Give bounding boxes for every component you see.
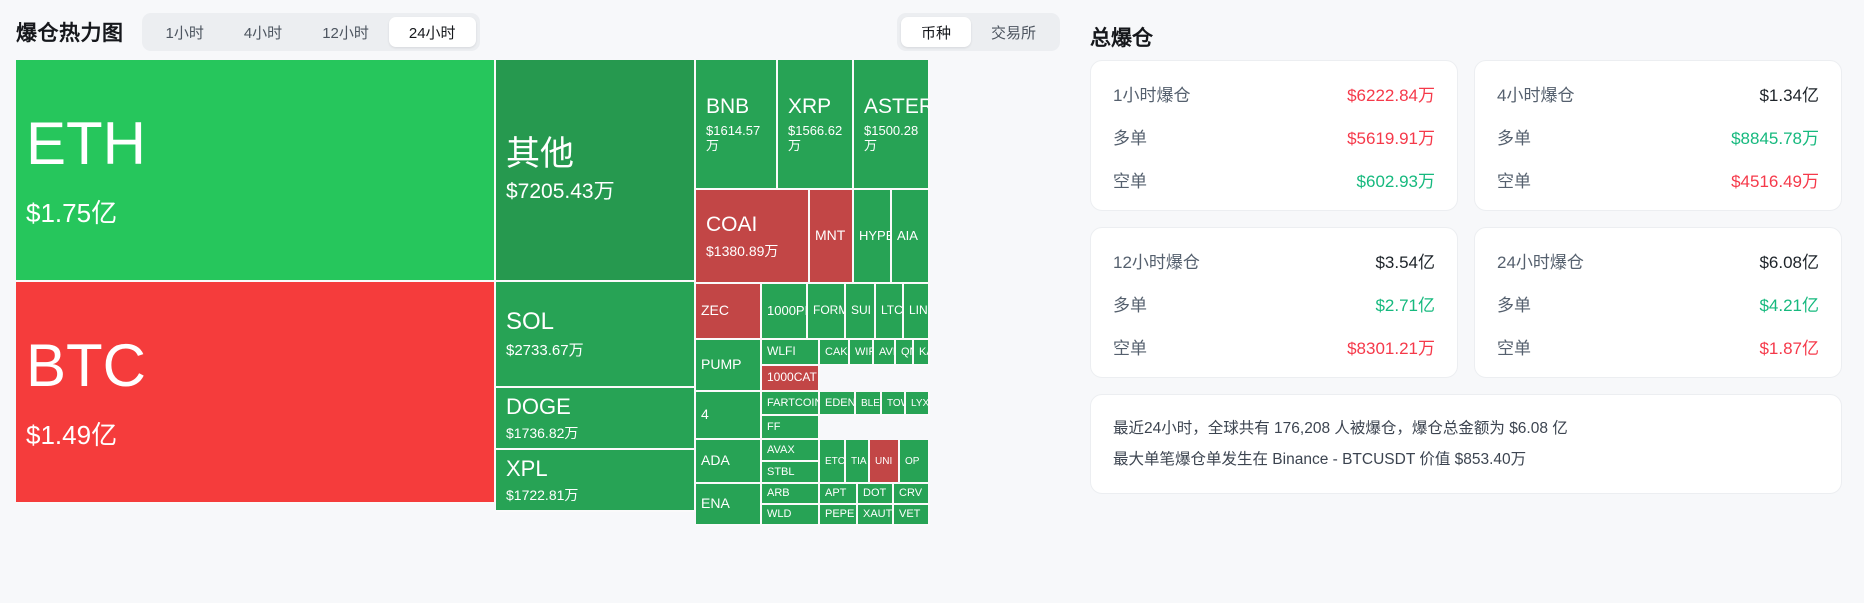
stats-card-grid: 1小时爆仓$6222.84万多单$5619.91万空单$602.93万4小时爆仓… <box>1090 60 1842 378</box>
tile-symbol: TOWNS <box>887 398 899 409</box>
stats-row-value: $1.34亿 <box>1759 81 1819 106</box>
treemap-tile[interactable]: 4 <box>696 392 762 440</box>
tile-symbol: MNT <box>815 228 847 243</box>
stats-row: 4小时爆仓$1.34亿 <box>1497 81 1819 106</box>
stats-card-1h: 1小时爆仓$6222.84万多单$5619.91万空单$602.93万 <box>1090 60 1458 211</box>
stats-row-label: 空单 <box>1497 334 1531 359</box>
stats-row-value: $1.87亿 <box>1759 334 1819 359</box>
treemap-tile[interactable]: WLD <box>762 505 820 526</box>
treemap-tile[interactable]: DOT <box>858 484 894 505</box>
tile-symbol: LINK <box>909 304 923 317</box>
tile-symbol: DOT <box>863 487 887 499</box>
tab-group-0[interactable]: 币种 <box>901 17 971 47</box>
treemap-tile[interactable]: AVNT <box>874 340 896 366</box>
tile-symbol: FARTCOIN <box>767 397 813 409</box>
tile-value: $1.49亿 <box>26 421 484 451</box>
stats-row: 多单$5619.91万 <box>1113 124 1435 149</box>
stats-title: 总爆仓 <box>1090 0 1842 60</box>
tile-symbol: SUI <box>851 304 869 317</box>
stats-row-label: 多单 <box>1113 124 1147 149</box>
treemap-tile[interactable]: FORM <box>808 284 846 340</box>
treemap-tile[interactable]: ETH$1.75亿 <box>16 60 496 282</box>
treemap-tile[interactable]: SOL$2733.67万 <box>496 282 696 388</box>
stats-row: 多单$8845.78万 <box>1497 124 1819 149</box>
stats-row-value: $6222.84万 <box>1347 81 1435 106</box>
treemap-tile[interactable]: STBL <box>762 462 820 484</box>
tile-symbol: APT <box>825 487 851 499</box>
stats-row-value: $4516.49万 <box>1731 167 1819 192</box>
treemap-tile[interactable]: FARTCOIN <box>762 392 820 416</box>
tile-symbol: XPL <box>506 457 684 481</box>
tab-time-0[interactable]: 1小时 <box>146 17 224 47</box>
treemap-tile[interactable]: CRV <box>894 484 930 505</box>
treemap-tile[interactable]: ADA <box>696 440 762 484</box>
treemap-tile[interactable]: AVAX <box>762 440 820 462</box>
tile-value: $1.75亿 <box>26 199 484 229</box>
tile-symbol: BLESS <box>861 398 875 409</box>
tile-symbol: BNB <box>706 95 766 118</box>
heatmap-header: 爆仓热力图 1小时4小时12小时24小时 币种交易所 <box>16 0 1074 60</box>
treemap-tile[interactable]: WLFI <box>762 340 820 366</box>
treemap-tile[interactable]: 1000PEPE <box>762 284 808 340</box>
tile-symbol: ETC <box>825 456 839 467</box>
stats-row-label: 12小时爆仓 <box>1113 248 1200 273</box>
tile-symbol: TIA <box>851 456 863 467</box>
tile-symbol: 1000PEPE <box>767 304 801 318</box>
tile-symbol: PEPE <box>825 508 851 520</box>
treemap-tile[interactable]: ETC <box>820 440 846 484</box>
tile-symbol: ETH <box>26 111 484 177</box>
stats-row-label: 1小时爆仓 <box>1113 81 1190 106</box>
tab-group-1[interactable]: 交易所 <box>971 17 1056 47</box>
tab-time-3[interactable]: 24小时 <box>389 17 476 47</box>
stats-row-label: 多单 <box>1497 291 1531 316</box>
treemap-tile[interactable]: ZEC <box>696 284 762 340</box>
tile-value: $1500.28万 <box>864 124 918 154</box>
tile-symbol: HYPE <box>859 229 885 243</box>
stats-row: 多单$2.71亿 <box>1113 291 1435 316</box>
summary-box: 最近24小时，全球共有 176,208 人被爆仓，爆仓总金额为 $6.08 亿最… <box>1090 394 1842 494</box>
stats-row-value: $8845.78万 <box>1731 124 1819 149</box>
tile-value: $1614.57万 <box>706 124 766 154</box>
stats-row: 多单$4.21亿 <box>1497 291 1819 316</box>
tab-time-1[interactable]: 4小时 <box>224 17 302 47</box>
treemap-tile[interactable]: WIF <box>850 340 874 366</box>
treemap-tile[interactable]: XAUT <box>858 505 894 526</box>
tile-symbol: BTC <box>26 333 484 399</box>
stats-card-24h: 24小时爆仓$6.08亿多单$4.21亿空单$1.87亿 <box>1474 227 1842 378</box>
tile-value: $1566.62万 <box>788 124 842 154</box>
stats-row-value: $8301.21万 <box>1347 334 1435 359</box>
treemap-tile[interactable]: 1000CAT <box>762 366 820 392</box>
liquidation-dashboard: 爆仓热力图 1小时4小时12小时24小时 币种交易所 ETH$1.75亿BTC$… <box>0 0 1864 603</box>
time-range-tabs: 1小时4小时12小时24小时 <box>142 13 480 51</box>
stats-row-label: 4小时爆仓 <box>1497 81 1574 106</box>
stats-row-value: $602.93万 <box>1357 167 1435 192</box>
tile-symbol: AIA <box>897 229 923 243</box>
group-by-tabs: 币种交易所 <box>897 13 1060 51</box>
tile-symbol: VET <box>899 508 923 520</box>
treemap-tile[interactable]: APT <box>820 484 858 505</box>
stats-row: 空单$4516.49万 <box>1497 167 1819 192</box>
tile-symbol: EDEN <box>825 397 849 409</box>
tile-symbol: OP <box>905 456 923 467</box>
stats-row: 12小时爆仓$3.54亿 <box>1113 248 1435 273</box>
summary-line: 最近24小时，全球共有 176,208 人被爆仓，爆仓总金额为 $6.08 亿 <box>1113 413 1819 444</box>
treemap-tile[interactable]: TIA <box>846 440 870 484</box>
treemap-tile[interactable]: EDEN <box>820 392 856 416</box>
page-title: 爆仓热力图 <box>16 17 124 47</box>
stats-row-label: 多单 <box>1113 291 1147 316</box>
stats-row-label: 多单 <box>1497 124 1531 149</box>
tile-symbol: ZEC <box>701 303 755 318</box>
stats-row-label: 空单 <box>1113 167 1147 192</box>
tile-symbol: FORM <box>813 304 839 317</box>
treemap-tile[interactable]: PUMP <box>696 340 762 392</box>
tile-symbol: AVAX <box>767 444 813 456</box>
treemap-tile[interactable]: 其他$7205.43万 <box>496 60 696 282</box>
stats-row: 空单$1.87亿 <box>1497 334 1819 359</box>
treemap-tile[interactable]: TOWNS <box>882 392 906 416</box>
liquidation-treemap: ETH$1.75亿BTC$1.49亿其他$7205.43万SOL$2733.67… <box>16 60 1074 603</box>
treemap-tile[interactable]: OP <box>900 440 930 484</box>
tile-symbol: CRV <box>899 487 923 499</box>
stats-row: 24小时爆仓$6.08亿 <box>1497 248 1819 273</box>
tile-symbol: WLD <box>767 508 813 520</box>
tile-value: $7205.43万 <box>506 180 684 204</box>
tile-symbol: FF <box>767 421 813 433</box>
treemap-tile[interactable]: XPL$1722.81万 <box>496 450 696 512</box>
treemap-tile[interactable]: BTC$1.49亿 <box>16 282 496 504</box>
tile-value: $1380.89万 <box>706 243 798 259</box>
stats-row-label: 空单 <box>1113 334 1147 359</box>
tile-symbol: CAKE <box>825 346 843 358</box>
tile-symbol: 1000CAT <box>767 371 813 384</box>
stats-row-value: $4.21亿 <box>1759 291 1819 316</box>
treemap-tile[interactable]: CAKE <box>820 340 850 366</box>
stats-row-label: 24小时爆仓 <box>1497 248 1584 273</box>
tile-symbol: AVNT <box>879 346 889 358</box>
tile-symbol: 其他 <box>506 136 684 173</box>
treemap-tile[interactable]: BLESS <box>856 392 882 416</box>
treemap-tile[interactable]: ARB <box>762 484 820 505</box>
total-liquidation-panel: 总爆仓 1小时爆仓$6222.84万多单$5619.91万空单$602.93万4… <box>1090 0 1864 603</box>
treemap-tile[interactable]: ENA <box>696 484 762 526</box>
stats-row: 空单$602.93万 <box>1113 167 1435 192</box>
tile-symbol: PUMP <box>701 357 755 372</box>
stats-card-12h: 12小时爆仓$3.54亿多单$2.71亿空单$8301.21万 <box>1090 227 1458 378</box>
stats-row-value: $5619.91万 <box>1347 124 1435 149</box>
tile-symbol: QNT <box>901 346 907 358</box>
tile-symbol: COAI <box>706 213 798 236</box>
tile-symbol: WLFI <box>767 345 813 358</box>
tile-symbol: XAUT <box>863 508 887 520</box>
tab-time-2[interactable]: 12小时 <box>302 17 389 47</box>
treemap-tile[interactable]: DOGE$1736.82万 <box>496 388 696 450</box>
treemap-tile[interactable]: UNI <box>870 440 900 484</box>
treemap-tile[interactable]: BNB$1614.57万 <box>696 60 778 190</box>
tile-symbol: SOL <box>506 309 684 335</box>
tile-symbol: ADA <box>701 453 755 468</box>
treemap-tile[interactable]: FF <box>762 416 820 440</box>
treemap-tile[interactable]: LTC <box>876 284 904 340</box>
treemap-tile[interactable]: XRP$1566.62万 <box>778 60 854 190</box>
tile-symbol: UNI <box>875 456 893 467</box>
stats-row-value: $3.54亿 <box>1375 248 1435 273</box>
stats-row: 1小时爆仓$6222.84万 <box>1113 81 1435 106</box>
stats-card-4h: 4小时爆仓$1.34亿多单$8845.78万空单$4516.49万 <box>1474 60 1842 211</box>
treemap-tile[interactable]: LINK <box>904 284 930 340</box>
treemap-tile[interactable]: SUI <box>846 284 876 340</box>
stats-row-label: 空单 <box>1497 167 1531 192</box>
tile-value: $1722.81万 <box>506 487 684 503</box>
tile-symbol: LYX <box>911 398 923 409</box>
tile-symbol: WIF <box>855 346 867 358</box>
tile-symbol: KAS <box>919 346 923 358</box>
tile-symbol: ENA <box>701 496 755 511</box>
tile-symbol: LTC <box>881 304 897 317</box>
tile-symbol: DOGE <box>506 395 684 419</box>
heatmap-panel: 爆仓热力图 1小时4小时12小时24小时 币种交易所 ETH$1.75亿BTC$… <box>0 0 1090 603</box>
tile-symbol: STBL <box>767 466 813 478</box>
tile-symbol: XRP <box>788 95 842 118</box>
treemap-tile[interactable]: ASTER$1500.28万 <box>854 60 930 190</box>
stats-row: 空单$8301.21万 <box>1113 334 1435 359</box>
tile-value: $1736.82万 <box>506 425 684 441</box>
tile-symbol: ASTER <box>864 95 918 118</box>
tile-value: $2733.67万 <box>506 342 684 359</box>
treemap-tile[interactable]: LYX <box>906 392 930 416</box>
treemap-tile[interactable]: VET <box>894 505 930 526</box>
stats-row-value: $2.71亿 <box>1375 291 1435 316</box>
stats-row-value: $6.08亿 <box>1759 248 1819 273</box>
treemap-tile[interactable]: COAI$1380.89万 <box>696 190 810 284</box>
treemap-tile[interactable]: HYPE <box>854 190 892 284</box>
treemap-tile[interactable]: PEPE <box>820 505 858 526</box>
tile-symbol: 4 <box>701 407 755 422</box>
treemap-tile[interactable]: AIA <box>892 190 930 284</box>
treemap-tile[interactable]: KAS <box>914 340 930 366</box>
treemap-tile[interactable]: QNT <box>896 340 914 366</box>
summary-line: 最大单笔爆仓单发生在 Binance - BTCUSDT 价值 $853.40万 <box>1113 444 1819 475</box>
tile-symbol: ARB <box>767 487 813 499</box>
treemap-tile[interactable]: MNT <box>810 190 854 284</box>
